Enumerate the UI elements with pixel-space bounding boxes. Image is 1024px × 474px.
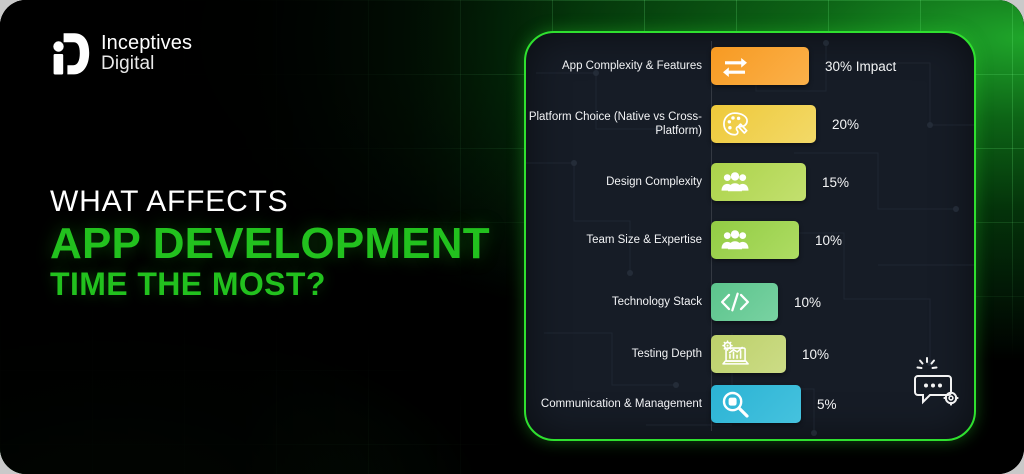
brand-wordmark: Inceptives Digital [101,33,192,74]
chart-value-label: 10% [794,295,821,310]
chart-row-label: Platform Choice (Native vs Cross-Platfor… [526,110,702,139]
chart-row: Testing Depth10% [526,335,974,373]
chart-value-label: 20% [832,117,859,132]
chart-value-label: 10% [802,347,829,362]
code-brackets-icon [716,283,754,321]
chart-panel: App Complexity & Features30% ImpactPlatf… [524,31,976,441]
chart-value-label: 5% [817,397,837,412]
brand-name-line1: Inceptives [101,33,192,54]
chart-row: Team Size & Expertise10% [526,221,974,259]
chart-bar [711,163,806,201]
chart-value-label: 30% Impact [825,59,896,74]
headline-line3: TIME THE MOST? [50,268,490,302]
people-group-icon [716,221,754,259]
chart-value-label: 15% [822,175,849,190]
infographic-poster: Inceptives Digital WHAT AFFECTS APP DEVE… [0,0,1024,474]
chart-bar [711,283,778,321]
palette-icon [716,105,754,143]
chart-row-label: Technology Stack [526,295,702,309]
chat-bubble-gear-icon [914,357,960,409]
chart-bar [711,335,786,373]
chart-bar [711,105,816,143]
chart-row: Communication & Management5% [526,385,974,423]
chart-row: App Complexity & Features30% Impact [526,47,974,85]
chart-bar [711,385,801,423]
headline-block: WHAT AFFECTS APP DEVELOPMENT TIME THE MO… [50,186,490,302]
chart-row-label: Testing Depth [526,347,702,361]
magnifier-icon [716,385,754,423]
chart-bar [711,221,799,259]
chart-row-label: Team Size & Expertise [526,233,702,247]
headline-line1: WHAT AFFECTS [50,186,490,218]
brand-name-line2: Digital [101,54,192,74]
chart-value-label: 10% [815,233,842,248]
chart-row: Platform Choice (Native vs Cross-Platfor… [526,105,974,143]
people-group-icon [716,163,754,201]
chart-row-label: Design Complexity [526,175,702,189]
chart-row-label: Communication & Management [526,397,702,411]
chart-bar [711,47,809,85]
chart-row: Design Complexity15% [526,163,974,201]
chart-row-label: App Complexity & Features [526,59,702,73]
laptop-analytics-gear-icon [716,335,754,373]
chart-rows: App Complexity & Features30% ImpactPlatf… [526,33,974,439]
headline-line2: APP DEVELOPMENT [50,222,490,267]
id-monogram-icon [50,30,90,77]
chart-row: Technology Stack10% [526,283,974,321]
brand-logo: Inceptives Digital [50,30,192,77]
exchange-arrows-icon [716,47,754,85]
